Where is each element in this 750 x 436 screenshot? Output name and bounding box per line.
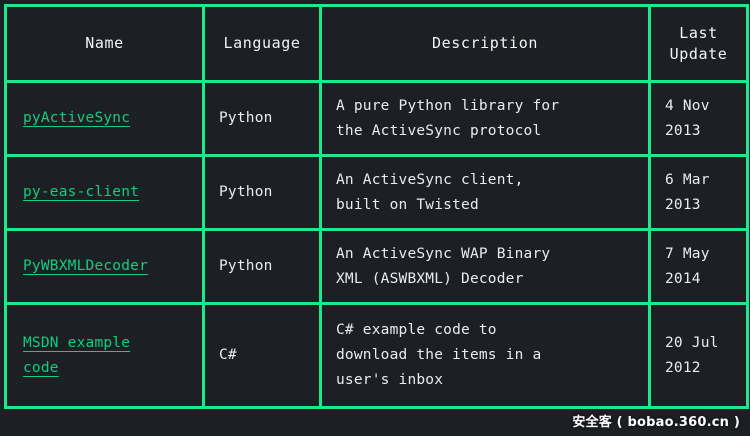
watermark: 安全客 ( bobao.360.cn ) [572,411,740,430]
cell-name: PyWBXMLDecoder [6,230,204,304]
cell-name: py-eas-client [6,156,204,230]
repo-link-py-eas-client[interactable]: py-eas-client [23,184,139,200]
last-update-line-2: 2014 [665,267,746,292]
cell-name: pyActiveSync [6,82,204,156]
table-body: pyActiveSync Python A pure Python librar… [6,82,748,408]
description-line-2: built on Twisted [336,193,648,218]
repo-link-pyactivesync[interactable]: pyActiveSync [23,110,130,126]
table-header-row: Name Language Description Last Update [6,6,748,82]
repo-link-line-2: code [23,356,202,381]
repo-link-line-1: MSDN example [23,331,202,356]
description-lines: A pure Python library for the ActiveSync… [336,94,648,144]
description-line-2: XML (ASWBXML) Decoder [336,267,648,292]
last-update-lines: 20 Jul 2012 [665,331,746,381]
table-row: py-eas-client Python An ActiveSync clien… [6,156,748,230]
column-header-last-update-line2: Update [651,44,746,65]
repository-table: Name Language Description Last Update py… [4,4,749,409]
repo-link-pywbxmldecoder[interactable]: PyWBXMLDecoder [23,258,148,274]
cell-last-update: 6 Mar 2013 [650,156,748,230]
column-header-last-update[interactable]: Last Update [650,6,748,82]
column-header-language[interactable]: Language [204,6,321,82]
table-row: PyWBXMLDecoder Python An ActiveSync WAP … [6,230,748,304]
cell-last-update: 4 Nov 2013 [650,82,748,156]
cell-description: An ActiveSync client, built on Twisted [321,156,650,230]
description-line-2: the ActiveSync protocol [336,119,648,144]
table-row: pyActiveSync Python A pure Python librar… [6,82,748,156]
last-update-line-2: 2013 [665,119,746,144]
column-header-last-update-lines: Last Update [651,23,746,65]
repo-link-lines: MSDN example code [23,331,202,381]
description-line-1: An ActiveSync client, [336,168,648,193]
cell-description: An ActiveSync WAP Binary XML (ASWBXML) D… [321,230,650,304]
description-line-3: user's inbox [336,368,648,393]
table-header: Name Language Description Last Update [6,6,748,82]
cell-language: Python [204,230,321,304]
last-update-line-1: 7 May [665,242,746,267]
description-lines: C# example code to download the items in… [336,318,648,393]
last-update-line-2: 2013 [665,193,746,218]
repository-table-page: Name Language Description Last Update py… [0,0,750,436]
column-header-description[interactable]: Description [321,6,650,82]
last-update-line-1: 6 Mar [665,168,746,193]
cell-language: Python [204,156,321,230]
description-line-2: download the items in a [336,343,648,368]
cell-last-update: 7 May 2014 [650,230,748,304]
last-update-lines: 7 May 2014 [665,242,746,292]
description-lines: An ActiveSync WAP Binary XML (ASWBXML) D… [336,242,648,292]
description-line-1: An ActiveSync WAP Binary [336,242,648,267]
cell-description: C# example code to download the items in… [321,304,650,408]
description-line-1: C# example code to [336,318,648,343]
cell-last-update: 20 Jul 2012 [650,304,748,408]
cell-description: A pure Python library for the ActiveSync… [321,82,650,156]
last-update-lines: 6 Mar 2013 [665,168,746,218]
repo-link-msdn-example-code[interactable]: MSDN example code [23,331,202,381]
description-line-1: A pure Python library for [336,94,648,119]
table-row: MSDN example code C# C# example code to … [6,304,748,408]
description-lines: An ActiveSync client, built on Twisted [336,168,648,218]
column-header-name[interactable]: Name [6,6,204,82]
cell-name: MSDN example code [6,304,204,408]
cell-language: C# [204,304,321,408]
last-update-line-1: 20 Jul [665,331,746,356]
last-update-line-2: 2012 [665,356,746,381]
last-update-line-1: 4 Nov [665,94,746,119]
last-update-lines: 4 Nov 2013 [665,94,746,144]
cell-language: Python [204,82,321,156]
column-header-last-update-line1: Last [651,23,746,44]
